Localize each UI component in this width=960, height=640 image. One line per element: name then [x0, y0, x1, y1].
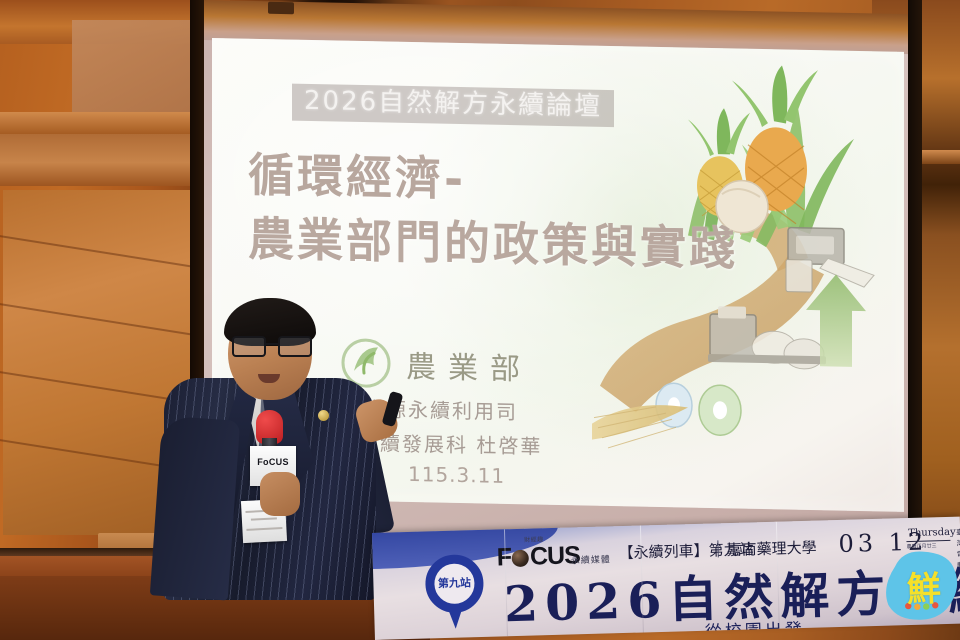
- banner-weekday: Thursday: [908, 527, 956, 539]
- slide-eyebrow: 2026自然解方永續論壇: [292, 84, 614, 127]
- microphone-flag-label: FoCUS: [254, 457, 292, 467]
- speaker-hand-holding-mic: [260, 472, 300, 516]
- screenshot-scene: 2026自然解方永續論壇 循環經濟- 農業部門的政策與實踐 農業部 資源永續利用…: [0, 0, 960, 640]
- screen-right-frame: [908, 0, 922, 545]
- station-pin-label: 第九站: [425, 574, 483, 592]
- wall-panel-mid: [0, 134, 212, 186]
- slide-title-line1: 循環經濟-: [248, 139, 466, 209]
- fresh-sticker-char: 鮮: [885, 561, 960, 612]
- lapel-pin-icon: [318, 410, 329, 421]
- organization-name: 農業部: [406, 342, 532, 389]
- screen-mount-bracket: [268, 2, 294, 15]
- glasses-icon: [232, 336, 310, 354]
- speaker-person: FoCUS: [150, 300, 400, 600]
- fresh-sticker-icon: 鮮: [885, 547, 960, 623]
- banner-meta-line1: 臺灣: [956, 528, 960, 547]
- station-pin-icon: 第九站: [425, 554, 485, 630]
- event-banner: 第九站 財經趣 FCUS 永續媒體 【永續列車】第九站 嘉南藥理大學 03 12…: [372, 517, 960, 640]
- slide-title-line2: 農業部門的政策與實踐: [248, 203, 738, 279]
- speaker-left-arm: [150, 415, 240, 600]
- slide-date: 115.3.11: [408, 462, 505, 488]
- wall-panel-ledge: [0, 112, 215, 134]
